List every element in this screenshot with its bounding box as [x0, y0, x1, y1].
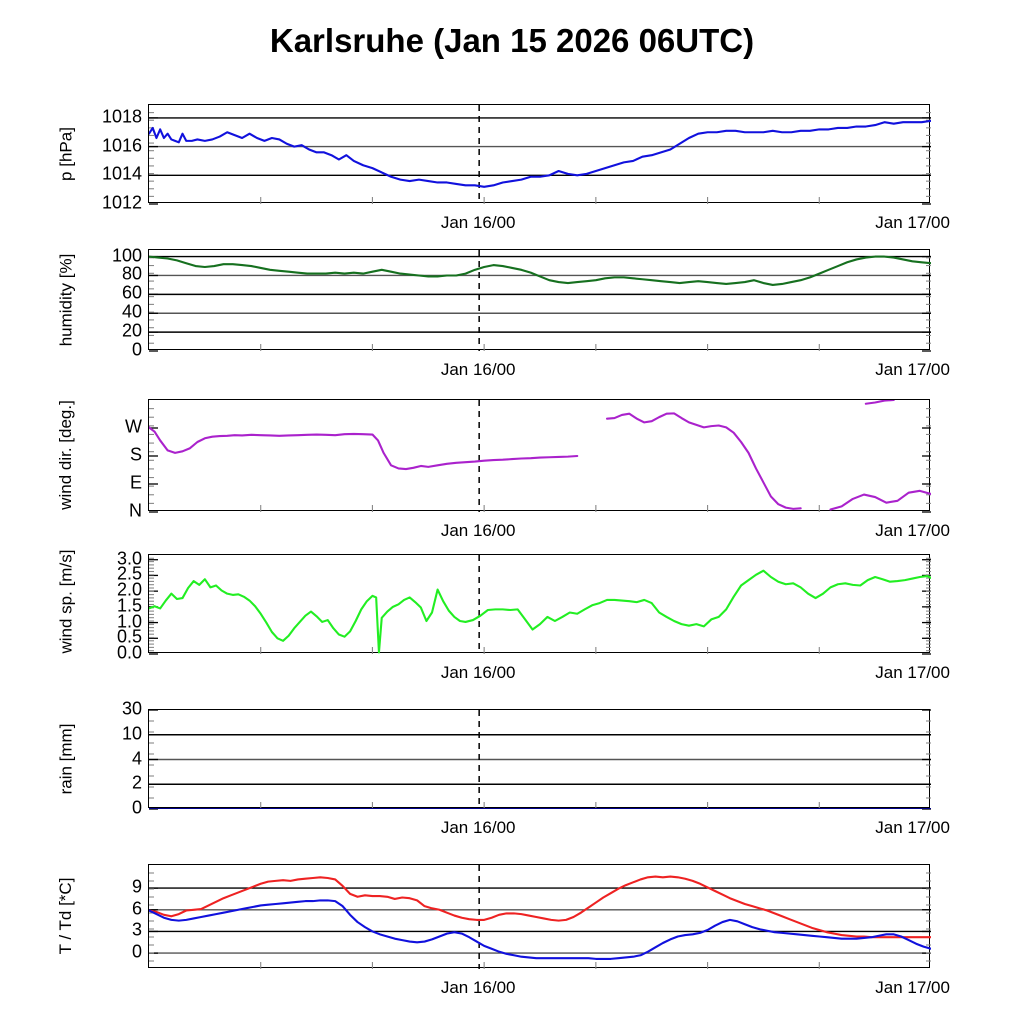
y-axis-tick-label: 4 — [82, 748, 142, 769]
series-pressure — [149, 121, 931, 187]
series-group — [149, 400, 1024, 510]
y-axis-tick-label: E — [82, 473, 142, 494]
plot-area-humidity — [148, 249, 930, 350]
y-axis-tick-label: 1012 — [82, 193, 142, 214]
y-axis-tick-label: S — [82, 445, 142, 466]
y-axis-label-rain: rain [mm] — [56, 709, 76, 808]
meteogram-figure: Karlsruhe (Jan 15 2026 06UTC) 1012101410… — [0, 0, 1024, 1024]
series-t — [149, 877, 931, 938]
series-wind-direction-segment-3 — [866, 400, 894, 404]
y-axis-label-wind-speed: wind sp. [m/s] — [56, 554, 76, 653]
series-group — [149, 121, 931, 187]
x-axis-tick-label: Jan 17/00 — [875, 213, 950, 233]
x-axis-tick-label: Jan 16/00 — [441, 978, 516, 998]
x-axis-tick-label: Jan 17/00 — [875, 818, 950, 838]
series-wind-speed — [149, 571, 931, 653]
y-axis-tick-label: N — [82, 501, 142, 522]
y-axis-tick-label: 1018 — [82, 106, 142, 127]
y-axis-tick-label: 10 — [82, 723, 142, 744]
series-relative-humidity — [149, 257, 931, 285]
y-axis-label-humidity: humidity [%] — [56, 249, 76, 350]
x-axis-tick-label: Jan 16/00 — [441, 360, 516, 380]
y-axis-tick-label: 1014 — [82, 164, 142, 185]
y-axis-tick-label: 0 — [82, 798, 142, 819]
y-axis-label-pressure: p [hPa] — [56, 104, 76, 203]
plot-area-pressure — [148, 104, 930, 203]
series-wind-direction-segment-4 — [830, 488, 1024, 510]
y-axis-tick-label: 20 — [82, 321, 142, 342]
y-axis-tick-label: 6 — [82, 898, 142, 919]
y-axis-tick-label: 60 — [82, 283, 142, 304]
plot-canvas-humidity — [149, 250, 931, 351]
plot-canvas-rain — [149, 710, 931, 809]
y-axis-label-wind-direction: wind dir. [deg.] — [56, 399, 76, 511]
plot-area-wind-speed — [148, 554, 930, 653]
plot-canvas-pressure — [149, 105, 931, 204]
y-axis-tick-label: 0 — [82, 340, 142, 361]
series-group — [149, 257, 931, 285]
series-wind-direction-segment-1 — [149, 427, 577, 469]
x-axis-tick-label: Jan 16/00 — [441, 213, 516, 233]
plot-area-wind-direction — [148, 399, 930, 511]
y-axis-tick-label: 3.0 — [82, 548, 142, 569]
y-axis-tick-label: 80 — [82, 264, 142, 285]
y-axis-tick-label: 1016 — [82, 135, 142, 156]
y-axis-label-temperature: T / Td [*C] — [56, 864, 76, 968]
x-axis-tick-label: Jan 17/00 — [875, 663, 950, 683]
x-axis-tick-label: Jan 16/00 — [441, 663, 516, 683]
y-axis-tick-label: W — [82, 417, 142, 438]
x-axis-tick-label: Jan 16/00 — [441, 521, 516, 541]
plot-area-temperature — [148, 864, 930, 968]
page-title: Karlsruhe (Jan 15 2026 06UTC) — [0, 22, 1024, 60]
x-axis-tick-label: Jan 17/00 — [875, 360, 950, 380]
x-axis-tick-label: Jan 17/00 — [875, 978, 950, 998]
plot-canvas-temperature — [149, 865, 931, 969]
plot-canvas-wind-direction — [149, 400, 931, 512]
y-axis-tick-label: 3 — [82, 920, 142, 941]
plot-area-rain — [148, 709, 930, 808]
y-axis-tick-label: 30 — [82, 699, 142, 720]
y-axis-tick-label: 9 — [82, 877, 142, 898]
series-group — [149, 877, 931, 959]
y-axis-tick-label: 40 — [82, 302, 142, 323]
y-axis-tick-label: 0 — [82, 942, 142, 963]
y-axis-tick-label: 100 — [82, 245, 142, 266]
series-group — [149, 571, 931, 653]
x-axis-tick-label: Jan 16/00 — [441, 818, 516, 838]
y-axis-tick-label: 2 — [82, 773, 142, 794]
plot-canvas-wind-speed — [149, 555, 931, 654]
x-axis-tick-label: Jan 17/00 — [875, 521, 950, 541]
